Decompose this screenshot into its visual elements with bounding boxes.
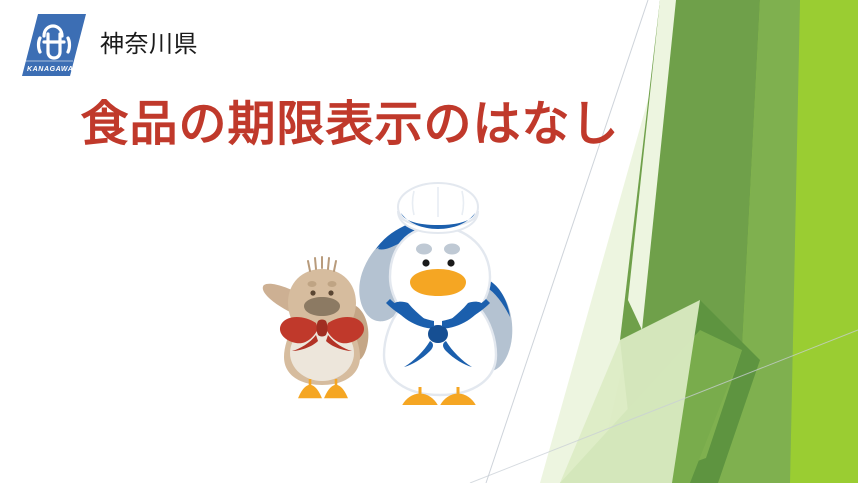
bird-brow-left [308,281,317,287]
decor-deep-green-point [700,0,800,483]
bird-ribbon-knot [317,320,328,337]
bird-beak [304,297,340,316]
decor-pale-wash [560,0,858,483]
kanagawa-prefecture-emblem-icon: KANAGAWA [18,8,90,80]
sailor-duck-mascot [359,183,512,405]
duck-beak [410,269,466,296]
duck-scarf-knot [428,325,448,343]
small-bird-mascot [263,257,369,397]
decor-mid-green-lower-slab [600,350,742,483]
decor-pale-green-sweep [540,0,858,483]
decor-lime-wedge [790,0,858,483]
decor-dark-green-wedge [620,0,760,483]
duck-eye-right [447,259,454,266]
bird-eye-left [310,290,315,295]
bird-brow-right [328,281,337,287]
decor-pale-overlay-triangle [560,300,700,483]
kanagawa-logo: KANAGAWA 神奈川県 [18,8,198,80]
prefecture-name-label: 神奈川県 [100,32,198,56]
logo-romaji: KANAGAWA [27,66,73,73]
decor-lower-diagonal-green [560,330,742,483]
decor-pale-strip [628,0,676,330]
duck-brow-left [416,244,432,255]
duck-eye-left [422,259,429,266]
slide-title: 食品の期限表示のはなし [0,84,700,154]
bird-head-tuft [308,257,336,271]
bird-eye-right [328,290,333,295]
duck-brow-right [444,244,460,255]
decor-deep-green-triangle [660,300,760,483]
presentation-slide: KANAGAWA 神奈川県 食品の期限表示のはなし [0,0,858,483]
decor-bright-green-wedge [688,0,858,483]
decor-light-green-band [596,0,858,483]
decor-lime-right-block [700,0,858,483]
mascot-illustration [262,165,562,405]
